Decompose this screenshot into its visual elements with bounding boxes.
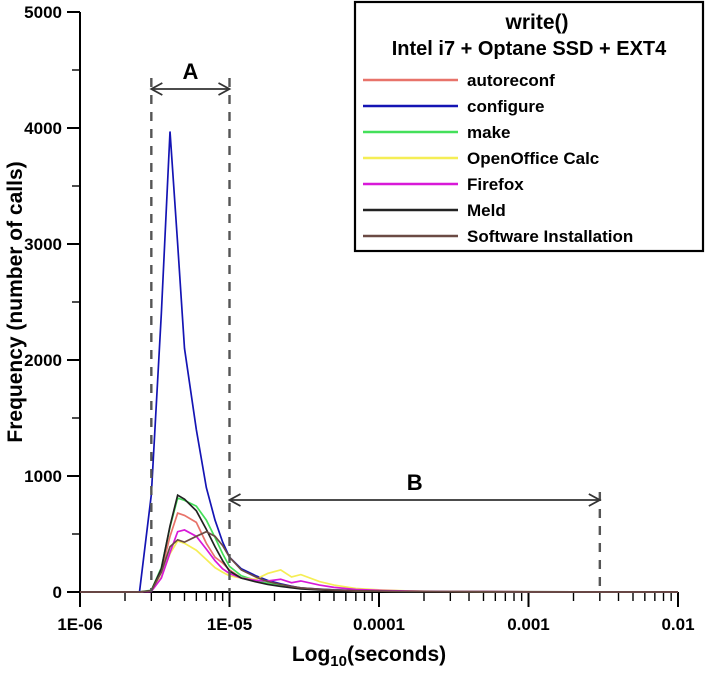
y-tick-label: 0 <box>53 583 62 602</box>
x-tick-label: 1E-06 <box>57 615 102 634</box>
chart-root: 010002000300040005000Frequency (number o… <box>0 0 706 673</box>
x-tick-label: 1E-05 <box>207 615 252 634</box>
legend-subtitle: Intel i7 + Optane SSD + EXT4 <box>392 38 667 60</box>
y-tick-label: 5000 <box>24 3 62 22</box>
y-tick-label: 2000 <box>24 351 62 370</box>
y-tick-label: 1000 <box>24 467 62 486</box>
range-label-B: B <box>407 470 423 495</box>
x-tick-label: 0.001 <box>507 615 550 634</box>
x-tick-label: 0.0001 <box>353 615 405 634</box>
legend-label-2: make <box>467 123 510 142</box>
x-tick-label: 0.01 <box>661 615 694 634</box>
range-label-A: A <box>182 59 198 84</box>
x-axis-title-text: Log10(seconds) <box>292 643 446 670</box>
y-axis-title-text: Frequency (number of calls) <box>4 161 27 442</box>
legend-label-4: Firefox <box>467 175 524 194</box>
frequency-histogram-chart: 010002000300040005000Frequency (number o… <box>0 0 706 673</box>
legend-label-0: autoreconf <box>467 71 555 90</box>
legend-label-1: configure <box>467 97 544 116</box>
series-line-meld <box>80 495 678 592</box>
y-tick-label: 3000 <box>24 235 62 254</box>
series-line-make <box>80 498 678 592</box>
legend-label-5: Meld <box>467 201 506 220</box>
legend-title: write() <box>505 11 569 34</box>
legend-label-6: Software Installation <box>467 227 633 246</box>
legend-label-3: OpenOffice Calc <box>467 149 599 168</box>
y-tick-label: 4000 <box>24 119 62 138</box>
